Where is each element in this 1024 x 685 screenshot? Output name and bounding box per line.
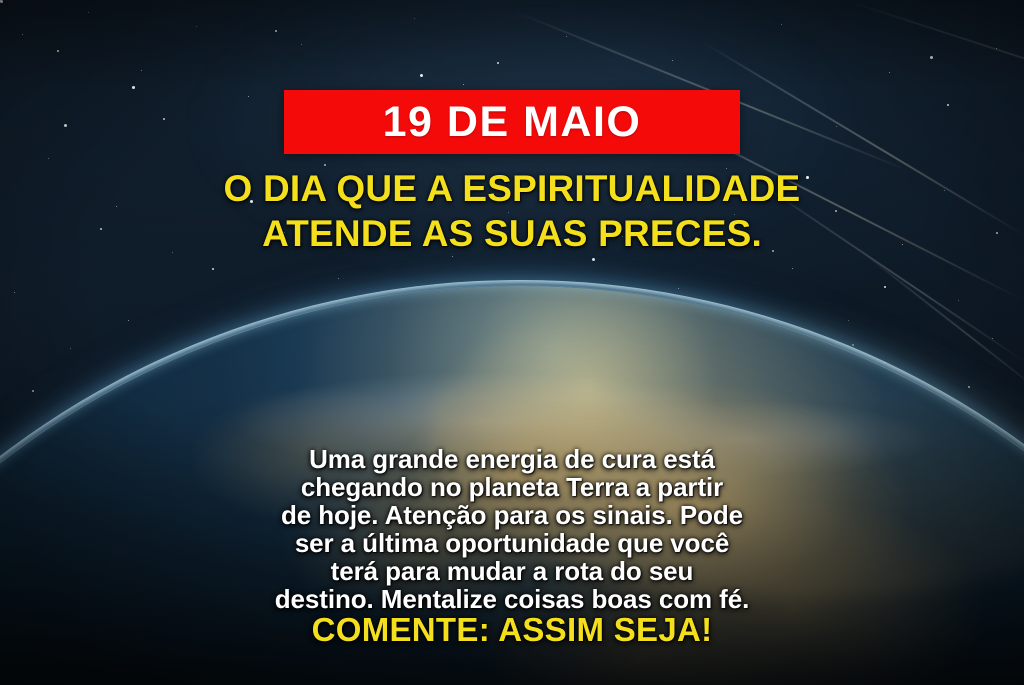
social-media-poster: 19 DE MAIO O DIA QUE A ESPIRITUALIDADE A… [0,0,1024,685]
headline-line-2: ATENDE AS SUAS PRECES. [40,211,984,256]
body-line-1: Uma grande energia de cura está [56,445,968,473]
body-line-5: terá para mudar a rota do seu [56,557,968,585]
body-line-6: destino. Mentalize coisas boas com fé. [56,585,968,613]
body-line-4: ser a última oportunidade que você [56,529,968,557]
body-copy: Uma grande energia de cura está chegando… [0,445,1024,613]
date-banner: 19 DE MAIO [284,90,740,154]
call-to-action-text: COMENTE: ASSIM SEJA! [312,611,713,648]
body-line-3: de hoje. Atenção para os sinais. Pode [56,501,968,529]
headline: O DIA QUE A ESPIRITUALIDADE ATENDE AS SU… [0,166,1024,256]
call-to-action: COMENTE: ASSIM SEJA! [0,613,1024,646]
headline-line-1: O DIA QUE A ESPIRITUALIDADE [40,166,984,211]
date-banner-text: 19 DE MAIO [383,101,642,144]
poster-content: 19 DE MAIO O DIA QUE A ESPIRITUALIDADE A… [0,0,1024,685]
body-line-2: chegando no planeta Terra a partir [56,473,968,501]
